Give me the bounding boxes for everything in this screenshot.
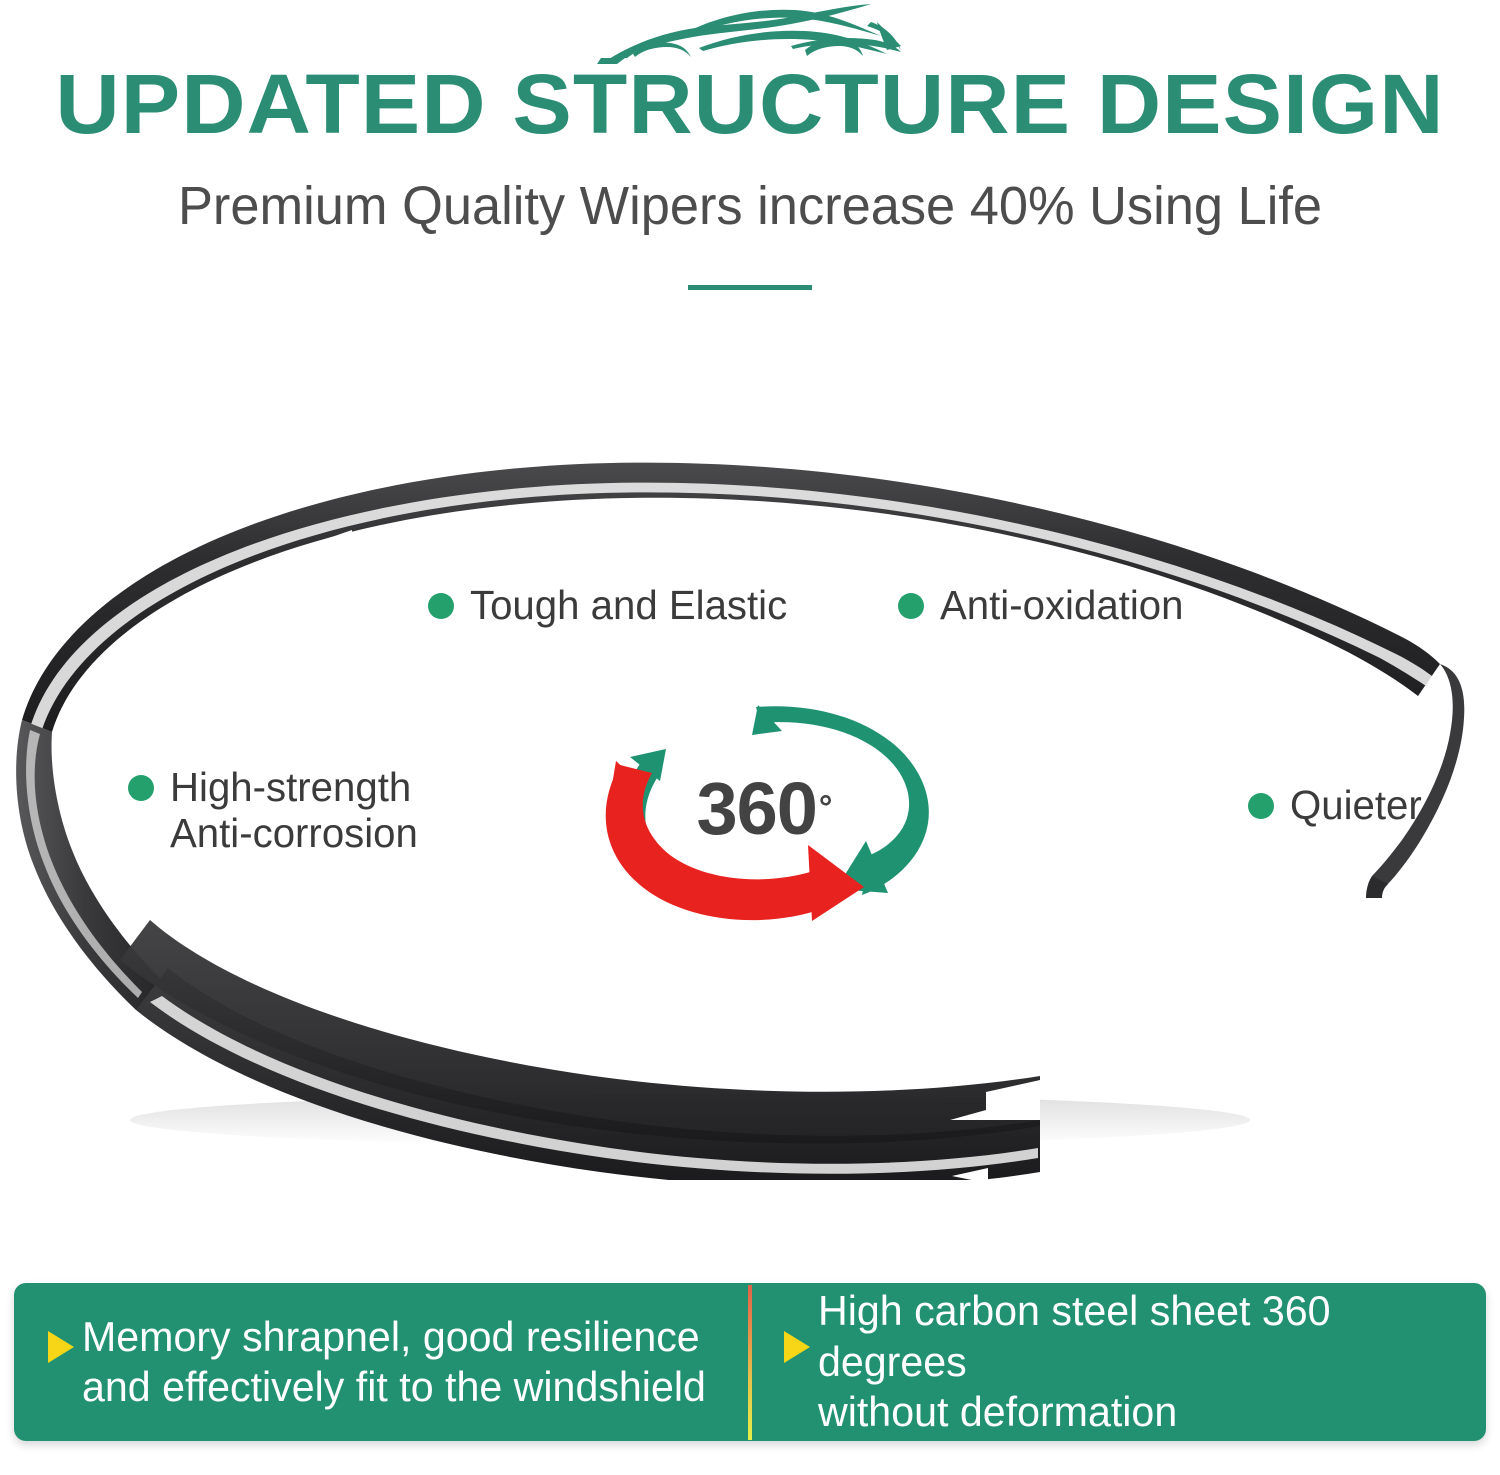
badge-number: 360 (696, 766, 816, 851)
page-subtitle: Premium Quality Wipers increase 40% Usin… (23, 178, 1478, 235)
badge-360-label: 360° (570, 695, 950, 925)
callout-label: Anti-oxidation (940, 583, 1183, 629)
banner-divider (748, 1285, 752, 1440)
page-title: UPDATED STRUCTURE DESIGN (0, 62, 1500, 146)
bullet-dot-icon (1248, 793, 1274, 819)
callout-tough-and-elastic: Tough and Elastic (428, 583, 794, 629)
triangle-bullet-icon (784, 1331, 810, 1363)
callout-label: Tough and Elastic (470, 583, 787, 629)
product-infographic: UPDATED STRUCTURE DESIGN Premium Quality… (0, 0, 1500, 1475)
callout-label: High-strength Anti-corrosion (170, 765, 418, 857)
banner-item-memory-shrapnel: Memory shrapnel, good resilience and eff… (14, 1283, 750, 1441)
degree-symbol: ° (819, 789, 832, 828)
bullet-dot-icon (128, 775, 154, 801)
banner-item-high-carbon-steel: High carbon steel sheet 360 degrees with… (750, 1283, 1486, 1441)
360-degree-badge: 360° (570, 695, 950, 925)
banner-item-text: Memory shrapnel, good resilience and eff… (82, 1312, 706, 1413)
banner-item-text: High carbon steel sheet 360 degrees with… (818, 1286, 1447, 1437)
callout-high-strength-anti-corrosion: High-strength Anti-corrosion (128, 765, 423, 857)
bullet-dot-icon (428, 593, 454, 619)
callout-label: Quieter (1290, 783, 1422, 829)
title-divider (688, 285, 812, 290)
callout-quieter: Quieter (1248, 783, 1424, 829)
triangle-bullet-icon (48, 1331, 74, 1363)
callout-anti-oxidation: Anti-oxidation (898, 583, 1188, 629)
bullet-dot-icon (898, 593, 924, 619)
